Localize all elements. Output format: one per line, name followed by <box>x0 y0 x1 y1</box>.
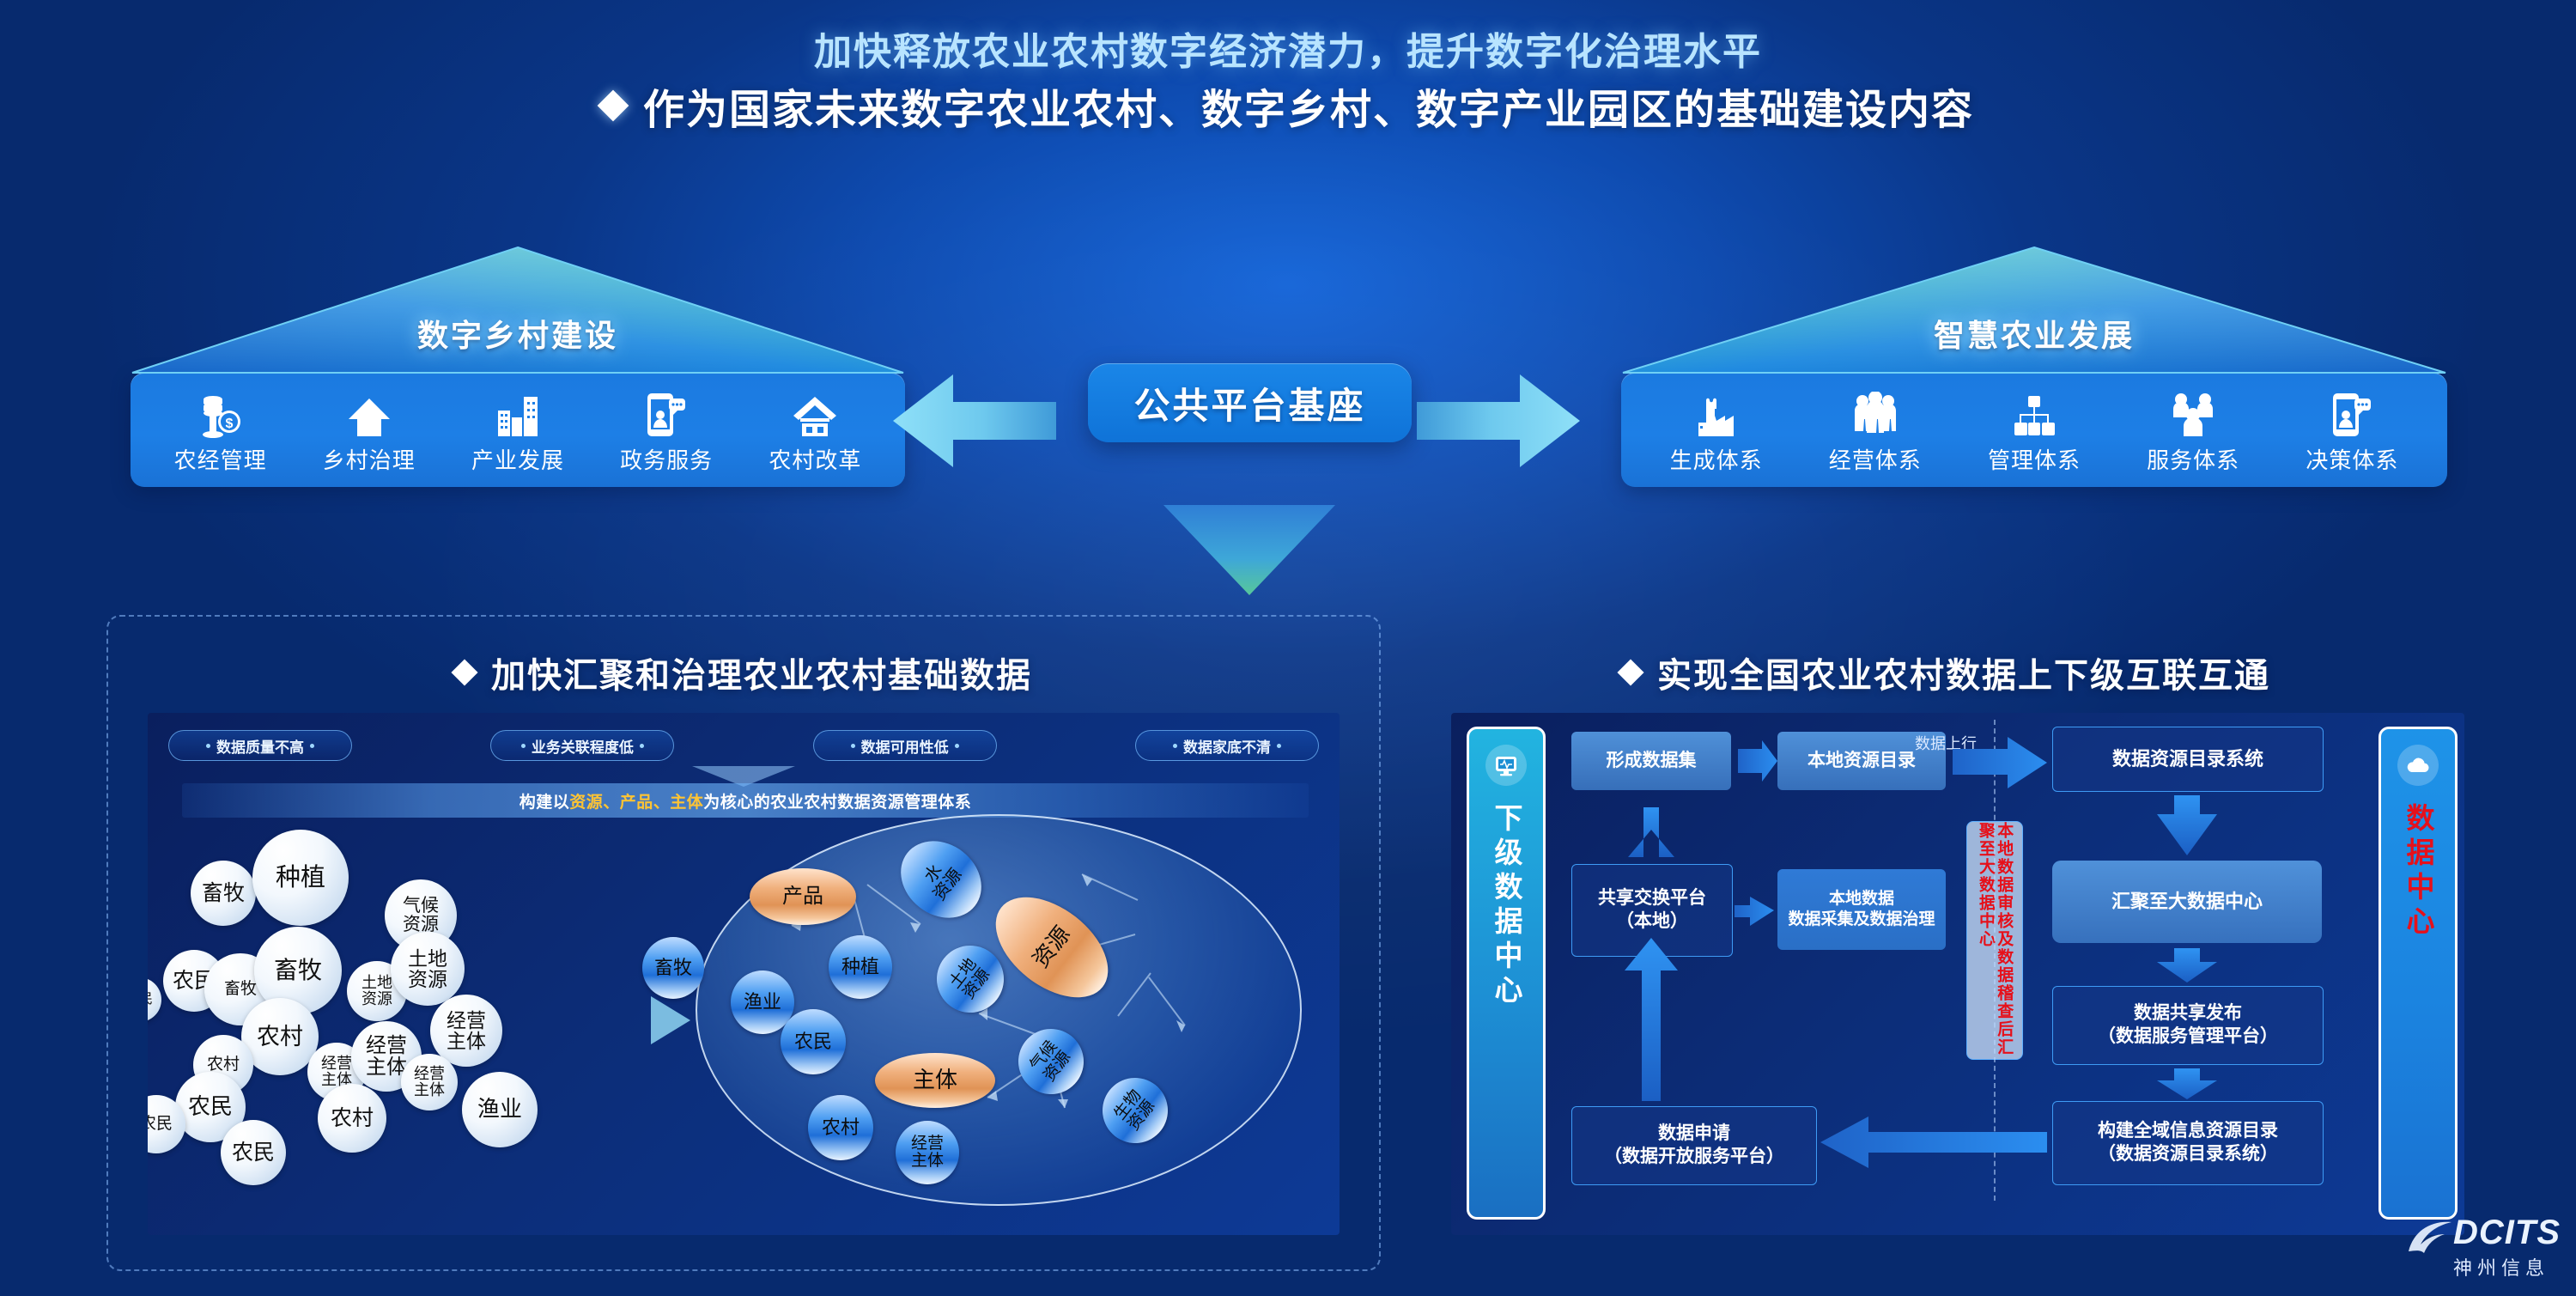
box-local-data-collect[interactable]: 本地数据 数据采集及数据治理 <box>1777 869 1946 950</box>
uplink-label: 数据上行 <box>1915 732 1977 754</box>
box-data-request[interactable]: 数据申请 （数据开放服务平台） <box>1571 1106 1817 1185</box>
smart-agriculture-items: 生成体系 经营体系 管理体系 服务体系 决策体系 <box>1621 373 2447 487</box>
right-panel-heading-text: 实现全国农业农村数据上下级互联互通 <box>1657 648 2270 697</box>
return-label: 数据返还 <box>1638 996 1661 1065</box>
logo-name-cn: 神州信息 <box>2453 1253 2561 1281</box>
diamond-bullet-icon-left <box>451 659 477 685</box>
right-panel: 实现全国农业农村数据上下级互联互通 下级数据中心 数据中心 形成数据集 本地资源… <box>1410 615 2482 1271</box>
home-icon <box>347 388 392 438</box>
box-local-data-collect-label: 本地数据 数据采集及数据治理 <box>1788 889 1935 931</box>
box-data-request-label: 数据申请 （数据开放服务平台） <box>1604 1123 1784 1169</box>
core-node: 资源 <box>977 877 1127 1017</box>
logo-swoosh-icon <box>2405 1217 2457 1266</box>
agri-item-0[interactable]: 生成体系 <box>1666 388 1767 475</box>
diamond-bullet-icon-right <box>1617 659 1643 685</box>
agri-item-4-label: 决策体系 <box>2306 443 2398 475</box>
box-aggregate-bigdata[interactable]: 汇聚至大数据中心 <box>2052 861 2322 943</box>
box-global-catalog[interactable]: 构建全域信息资源目录 （数据资源目录系统） <box>2052 1101 2324 1185</box>
box-data-share-publish-label: 数据共享发布 （数据服务管理平台） <box>2098 1002 2278 1049</box>
logo-name: DCITS <box>2453 1215 2561 1250</box>
core-node: 农村 <box>808 1095 873 1160</box>
core-node-layer: 产品水 资源资源畜牧种植土地 资源渔业农民主体气候 资源生物 资源农村经营 主体 <box>696 814 1302 1206</box>
diamond-bullet-icon <box>598 90 629 122</box>
page-title: 加快释放农业农村数字经济潜力，提升数字化治理水平 <box>0 21 2576 76</box>
chaos-bubble: 渔业 <box>462 1072 538 1147</box>
village-item-4[interactable]: 农村改革 <box>764 388 866 475</box>
right-panel-canvas: 下级数据中心 数据中心 形成数据集 本地资源目录 数据资源目录系统 共享交换平台… <box>1451 713 2464 1235</box>
org-tree-icon <box>2012 388 2057 438</box>
core-node: 种植 <box>829 935 892 999</box>
buildings-icon <box>495 388 540 438</box>
chaos-bubble: 畜牧 <box>191 861 256 926</box>
mobile-decision-icon <box>2330 388 2373 438</box>
box-share-exchange[interactable]: 共享交换平台 （本地） <box>1571 864 1733 957</box>
public-platform-base-pill[interactable]: 公共平台基座 <box>1088 363 1412 442</box>
left-panel: 加快汇聚和治理农业农村基础数据 数据质量不高 业务关联程度低 数据可用性低 数 <box>106 615 1381 1271</box>
chaos-bubble: 经营 主体 <box>401 1054 458 1110</box>
service-people-icon <box>2170 388 2216 438</box>
chaos-bubble: 农民 <box>221 1120 286 1185</box>
left-panel-canvas: 数据质量不高 业务关联程度低 数据可用性低 数据家底不清 <box>148 713 1340 1235</box>
monitor-pulse-icon <box>1485 745 1527 786</box>
company-logo: DCITS 神州信息 <box>2453 1215 2561 1281</box>
core-node: 产品 <box>750 868 856 925</box>
core-data-ellipse: 产品水 资源资源畜牧种植土地 资源渔业农民主体气候 资源生物 资源农村经营 主体 <box>696 814 1302 1206</box>
village-item-1-label: 乡村治理 <box>323 443 416 475</box>
factory-icon <box>1694 388 1739 438</box>
village-item-2[interactable]: 产业发展 <box>467 388 568 475</box>
village-item-3[interactable]: 政务服务 <box>616 388 717 475</box>
agri-item-1[interactable]: 经营体系 <box>1825 388 1926 475</box>
page-subtitle-text: 作为国家未来数字农业农村、数字乡村、数字产业园区的基础建设内容 <box>643 76 1974 136</box>
box-catalog-system[interactable]: 数据资源目录系统 <box>2052 727 2324 792</box>
lower-data-center-bar[interactable]: 下级数据中心 <box>1467 727 1546 1220</box>
lower-data-center-label: 下级数据中心 <box>1485 803 1527 1009</box>
agri-item-4[interactable]: 决策体系 <box>2301 388 2403 475</box>
digital-village-items: $ 农经管理 乡村治理 产业发展 政务服务 农村改革 <box>131 373 905 487</box>
village-item-1[interactable]: 乡村治理 <box>319 388 420 475</box>
arrow-right-icon <box>1417 369 1580 477</box>
village-item-0[interactable]: $ 农经管理 <box>170 388 271 475</box>
core-node: 水 资源 <box>885 825 996 934</box>
box-aggregate-bigdata-label: 汇聚至大数据中心 <box>2111 890 2263 914</box>
chaos-bubble: 农民 <box>148 977 161 1022</box>
agri-item-1-label: 经营体系 <box>1829 443 1922 475</box>
upper-data-center-label: 数据中心 <box>2397 803 2439 940</box>
arrow-down-icon <box>1163 505 1335 604</box>
core-node: 气候 资源 <box>1005 1016 1097 1108</box>
chaos-bubble: 农村 <box>318 1084 386 1153</box>
chaos-bubble: 种植 <box>252 830 349 926</box>
core-node: 农民 <box>781 1009 846 1074</box>
box-data-share-publish[interactable]: 数据共享发布 （数据服务管理平台） <box>2052 986 2324 1065</box>
agri-item-2-label: 管理体系 <box>1988 443 2081 475</box>
box-catalog-system-label: 数据资源目录系统 <box>2112 747 2263 771</box>
smart-agriculture-roof: 智慧农业发展 <box>1621 246 2447 374</box>
cloud-icon <box>2397 745 2439 786</box>
public-platform-base-label: 公共平台基座 <box>1133 377 1365 429</box>
right-panel-heading: 实现全国农业农村数据上下级互联互通 <box>1412 648 2480 697</box>
money-stack-icon: $ <box>198 388 243 438</box>
smart-agriculture-roof-label: 智慧农业发展 <box>1621 311 2447 356</box>
people-group-icon <box>1851 388 1899 438</box>
arrow-left-icon <box>893 369 1056 477</box>
core-node: 生物 资源 <box>1090 1065 1182 1157</box>
box-local-catalog-label: 本地资源目录 <box>1807 750 1916 773</box>
box-form-dataset-label: 形成数据集 <box>1607 750 1697 773</box>
smart-agriculture-house: 智慧农业发展 生成体系 经营体系 管理体系 服务体系 <box>1621 246 2447 487</box>
box-share-exchange-label: 共享交换平台 （本地） <box>1598 887 1706 934</box>
agri-item-3[interactable]: 服务体系 <box>2142 388 2244 475</box>
agri-item-0-label: 生成体系 <box>1670 443 1763 475</box>
box-form-dataset[interactable]: 形成数据集 <box>1571 732 1731 790</box>
upper-data-center-bar[interactable]: 数据中心 <box>2379 727 2458 1220</box>
left-panel-heading: 加快汇聚和治理农业农村基础数据 <box>108 648 1379 697</box>
uplink-divider <box>1994 720 1996 1201</box>
chaos-bubble: 土地 资源 <box>391 932 465 1006</box>
mobile-service-icon <box>645 388 688 438</box>
village-item-3-label: 政务服务 <box>620 443 713 475</box>
digital-village-roof-label: 数字乡村建设 <box>131 311 905 356</box>
agri-item-2[interactable]: 管理体系 <box>1984 388 2085 475</box>
village-item-0-label: 农经管理 <box>174 443 267 475</box>
village-item-2-label: 产业发展 <box>471 443 564 475</box>
agri-item-3-label: 服务体系 <box>2147 443 2239 475</box>
digital-village-roof: 数字乡村建设 <box>131 246 905 374</box>
village-item-4-label: 农村改革 <box>769 443 861 475</box>
box-global-catalog-label: 构建全域信息资源目录 （数据资源目录系统） <box>2098 1120 2278 1166</box>
digital-village-house: 数字乡村建设 $ 农经管理 乡村治理 产业发展 政务服务 <box>131 246 905 487</box>
left-panel-heading-text: 加快汇聚和治理农业农村基础数据 <box>491 648 1032 697</box>
house-roof-icon <box>792 388 838 438</box>
svg-text:$: $ <box>225 417 233 431</box>
core-node: 主体 <box>875 1053 995 1108</box>
page-subtitle: 作为国家未来数字农业农村、数字乡村、数字产业园区的基础建设内容 <box>0 76 2576 136</box>
core-node: 畜牧 <box>642 937 704 999</box>
core-node: 经营 主体 <box>896 1121 959 1184</box>
